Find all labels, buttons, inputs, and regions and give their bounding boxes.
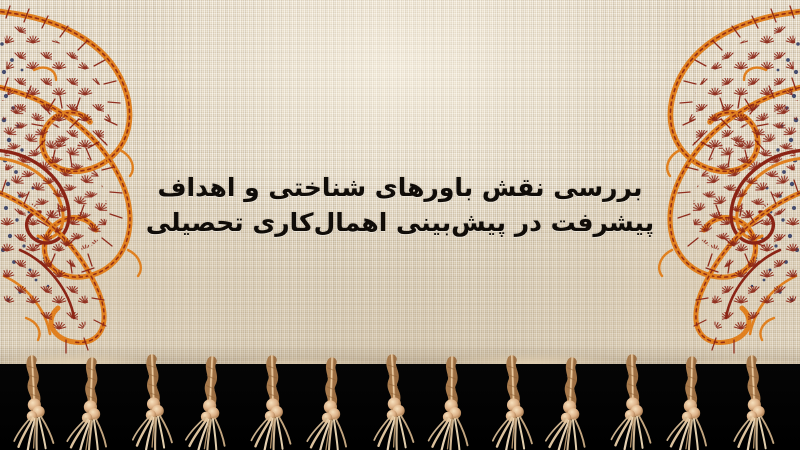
title-line-1: بررسی نقش باورهای شناختی و اهداف	[0, 170, 800, 205]
title-line-2: پیشرفت در پیش‌بینی اهمال‌کاری تحصیلی	[0, 205, 800, 240]
slide-canvas: بررسی نقش باورهای شناختی و اهداف پیشرفت …	[0, 0, 800, 450]
knotted-tassel-fringe-icon	[0, 352, 800, 450]
tassel-group	[10, 358, 774, 450]
slide-title: بررسی نقش باورهای شناختی و اهداف پیشرفت …	[0, 170, 800, 240]
